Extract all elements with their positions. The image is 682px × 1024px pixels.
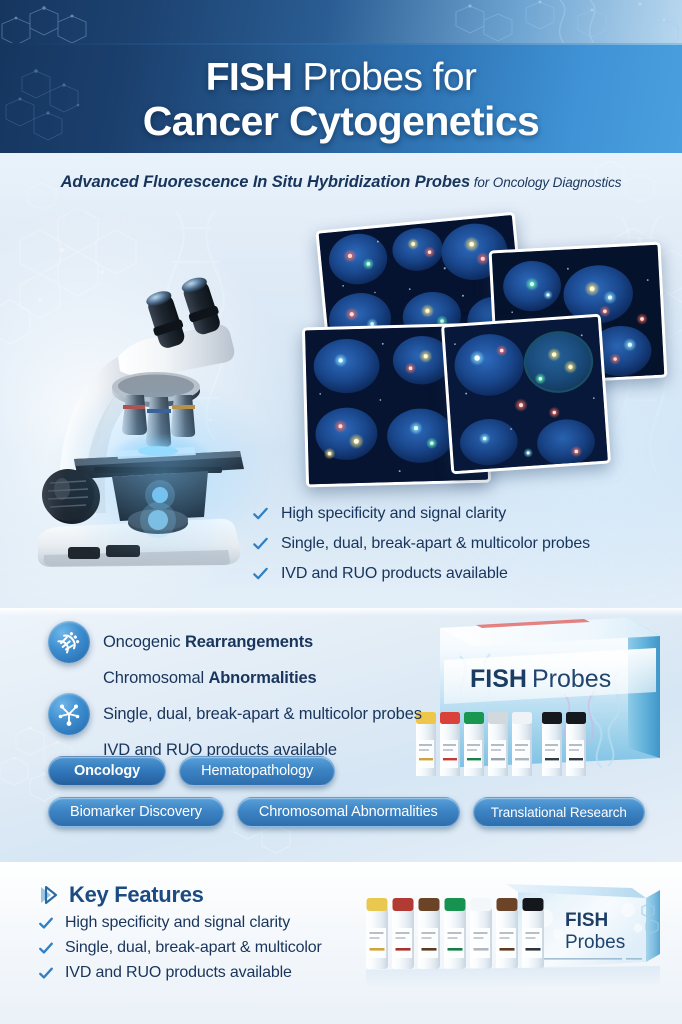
product-box-brand-fish: FISH (470, 665, 527, 693)
tag-biomarker-discovery[interactable]: Biomarker Discovery (48, 797, 224, 827)
top-strip-molecule-texture (0, 0, 682, 46)
title-fish-word: FISH (206, 56, 292, 99)
applications-section: FISH Probes (0, 608, 682, 862)
product-box-bottom: FISH Probes (360, 876, 678, 1008)
page-subtitle: Advanced Fluorescence In Situ Hybridizat… (61, 173, 622, 192)
key-feature-label: IVD and RUO products available (65, 964, 292, 982)
fish-image-4[interactable] (441, 314, 611, 475)
title-rest-words: Probes for (292, 56, 476, 99)
reagent-vial (444, 898, 466, 969)
tag-oncology[interactable]: Oncology (48, 756, 166, 786)
key-features-title: Key Features (69, 882, 204, 908)
top-accent-strip (0, 0, 682, 46)
application-tag-row-2: Biomarker Discovery Chromosomal Abnormal… (48, 797, 648, 827)
product-box-brand-probes-bottom: Probes (565, 932, 625, 953)
hero-check-label: High specificity and signal clarity (281, 505, 506, 523)
title-banner: FISH Probes for Cancer Cytogenetics (0, 45, 682, 153)
feature-label: Single, dual, break-apart & multicolor p… (103, 705, 422, 724)
key-features-section: Key Features High specificity and signal… (0, 862, 682, 1024)
reagent-vial (418, 898, 440, 969)
poster-root: FISH Probes for Cancer Cytogenetics Adva… (0, 0, 682, 1024)
check-icon (38, 965, 54, 981)
product-box-brand-probes: Probes (532, 665, 611, 693)
feature-label: Oncogenic Rearrangements (103, 633, 313, 652)
tag-chromosomal-abnormalities[interactable]: Chromosomal Abnormalities (237, 797, 460, 827)
check-icon (38, 940, 54, 956)
fish-micrograph-4 (444, 317, 608, 472)
tag-hematopathology[interactable]: Hematopathology (179, 756, 335, 786)
key-feature-item: IVD and RUO products available (38, 964, 322, 982)
hero-checklist: High specificity and signal clarity Sing… (252, 505, 676, 583)
key-features-header: Key Features (38, 882, 204, 908)
key-feature-item: High specificity and signal clarity (38, 914, 322, 932)
subtitle-main: Advanced Fluorescence In Situ Hybridizat… (61, 173, 470, 191)
microscope-stage-glow (48, 375, 278, 555)
subtitle-tail: for Oncology Diagnostics (470, 175, 621, 190)
key-feature-label: High specificity and signal clarity (65, 914, 290, 932)
hero-check-item: Single, dual, break-apart & multicolor p… (252, 535, 676, 553)
reagent-vial (496, 898, 518, 969)
feature-label: Chromosomal Abnormalities (103, 669, 317, 688)
hero-check-label: Single, dual, break-apart & multicolor p… (281, 535, 590, 553)
subtitle-band: Advanced Fluorescence In Situ Hybridizat… (0, 153, 682, 211)
fish-probes-kit-illustration-bottom: FISH Probes (360, 876, 678, 1008)
key-feature-item: Single, dual, break-apart & multicolor (38, 939, 322, 957)
check-icon (252, 536, 269, 553)
key-feature-label: Single, dual, break-apart & multicolor (65, 939, 322, 957)
feature-row: Single, dual, break-apart & multicolor p… (48, 696, 468, 732)
reagent-vial (366, 898, 388, 969)
check-icon (252, 566, 269, 583)
title-wrap: FISH Probes for Cancer Cytogenetics (0, 45, 682, 153)
reagent-vial (392, 898, 414, 969)
application-tag-row-1: Oncology Hematopathology (48, 756, 648, 786)
page-title-line-2: Cancer Cytogenetics (143, 101, 539, 142)
feature-row: Chromosomal Abnormalities (48, 660, 468, 696)
check-icon (252, 506, 269, 523)
hero-check-item: High specificity and signal clarity (252, 505, 676, 523)
feature-row: Oncogenic Rearrangements (48, 624, 468, 660)
fish-image-gallery (300, 213, 676, 503)
hero-check-item: IVD and RUO products available (252, 565, 676, 583)
check-icon (38, 915, 54, 931)
hero-section: High specificity and signal clarity Sing… (0, 205, 682, 608)
feature-list: Oncogenic Rearrangements Chromosomal Abn… (48, 624, 468, 768)
application-tags: Oncology Hematopathology Biomarker Disco… (48, 756, 648, 838)
reagent-vial (470, 898, 492, 969)
reagent-vial (522, 898, 544, 969)
double-chevron-icon (38, 884, 60, 906)
product-box-brand-fish-bottom: FISH (565, 910, 608, 931)
page-title-line-1: FISH Probes for (206, 58, 477, 97)
key-features-list: High specificity and signal clarity Sing… (38, 914, 322, 989)
hero-check-label: IVD and RUO products available (281, 565, 508, 583)
tag-translational-research[interactable]: Translational Research (473, 797, 645, 827)
